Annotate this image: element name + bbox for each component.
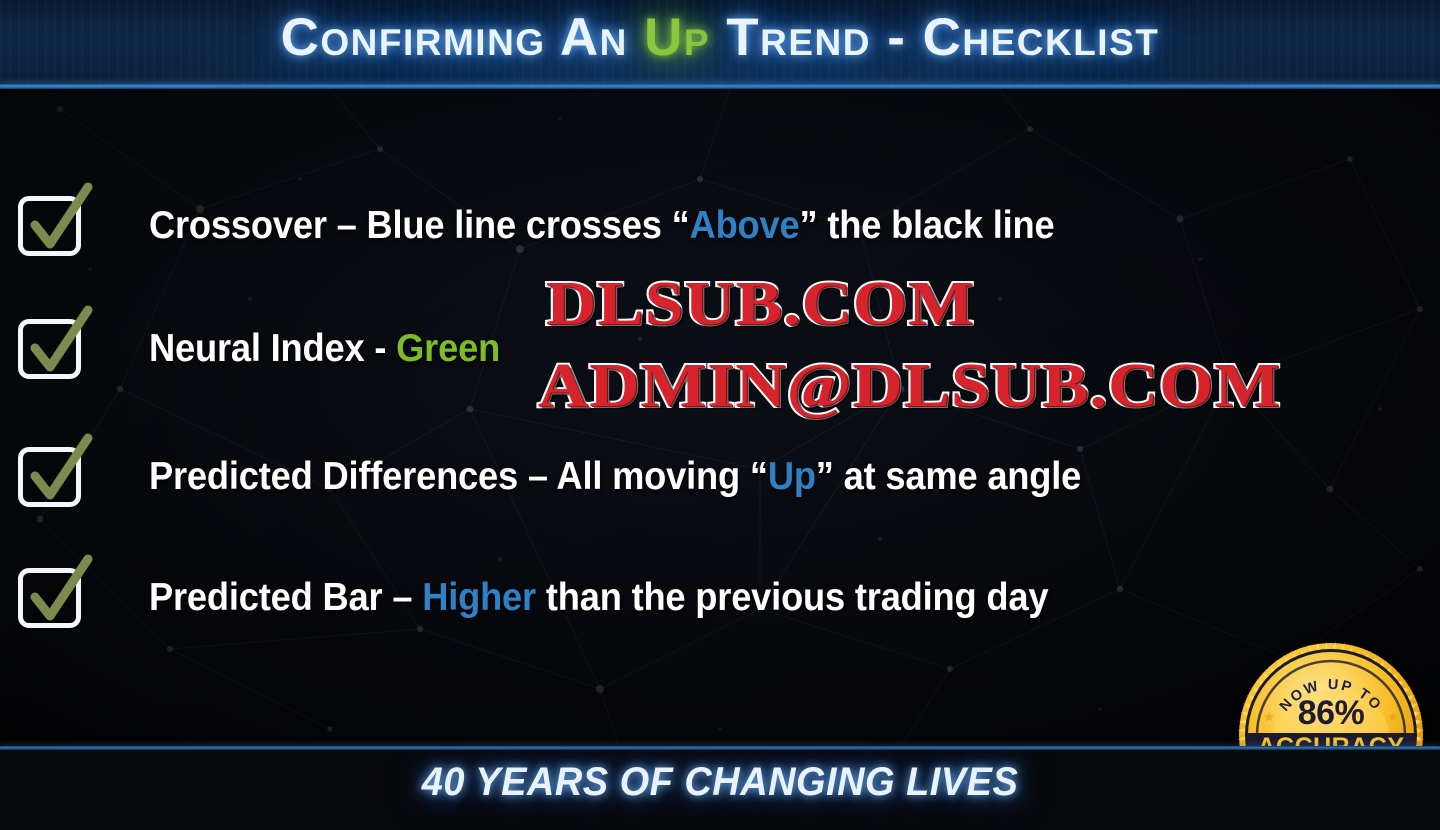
checklist: Crossover – Blue line crosses “Above” th…	[0, 89, 1440, 748]
checklist-item-crossover[interactable]: Crossover – Blue line crosses “Above” th…	[0, 190, 1440, 262]
checkbox-neural-index[interactable]	[18, 319, 81, 379]
page-title: Confirming An Up Trend - Checklist	[0, 7, 1440, 68]
text-emphasis: Green	[396, 327, 500, 370]
page-title-post: Trend - Checklist	[710, 8, 1159, 67]
checklist-item-predicted-bar[interactable]: Predicted Bar – Higher than the previous…	[0, 562, 1440, 634]
accuracy-seal-icon: NOW UP TO 86% ACCURACY Documented & Veri…	[1236, 640, 1426, 748]
page-title-pre: Confirming An	[281, 8, 644, 67]
checkbox-crossover[interactable]	[18, 196, 81, 256]
checklist-text-crossover: Crossover – Blue line crosses “Above” th…	[149, 204, 1055, 248]
checklist-item-predicted-differences[interactable]: Predicted Differences – All moving “Up” …	[0, 441, 1440, 513]
text-pre: Neural Index -	[149, 327, 396, 370]
checklist-text-predicted-differences: Predicted Differences – All moving “Up” …	[149, 455, 1081, 499]
text-post: ” at same angle	[816, 455, 1081, 498]
check-icon	[19, 553, 97, 639]
text-emphasis: Up	[768, 455, 816, 498]
check-icon	[19, 432, 97, 518]
footer-bar: 40 YEARS OF CHANGING LIVES VantagePoint …	[0, 750, 1440, 830]
accuracy-badge: NOW UP TO 86% ACCURACY Documented & Veri…	[1236, 640, 1426, 748]
text-pre: Crossover – Blue line crosses “	[149, 204, 690, 247]
checklist-text-predicted-bar: Predicted Bar – Higher than the previous…	[149, 576, 1048, 620]
check-icon	[19, 181, 97, 267]
badge-percent-text: 86%	[1298, 694, 1365, 732]
header-bar: Confirming An Up Trend - Checklist	[0, 0, 1440, 86]
text-post: than the previous trading day	[536, 576, 1048, 619]
checkbox-predicted-differences[interactable]	[18, 447, 81, 507]
text-pre: Predicted Bar –	[149, 576, 422, 619]
text-emphasis: Above	[690, 204, 800, 247]
check-icon	[19, 304, 97, 390]
footer-tagline: 40 YEARS OF CHANGING LIVES	[36, 760, 1404, 805]
text-emphasis: Higher	[422, 576, 536, 619]
checklist-item-neural-index[interactable]: Neural Index - Green	[0, 313, 1440, 385]
checkbox-predicted-bar[interactable]	[18, 568, 81, 628]
text-post: ” the black line	[799, 204, 1054, 247]
slide-root: Confirming An Up Trend - Checklist	[0, 0, 1440, 830]
text-pre: Predicted Differences – All moving “	[149, 455, 768, 498]
page-title-highlight: Up	[644, 8, 710, 67]
checklist-text-neural-index: Neural Index - Green	[149, 327, 500, 371]
content-area: Crossover – Blue line crosses “Above” th…	[0, 89, 1440, 748]
